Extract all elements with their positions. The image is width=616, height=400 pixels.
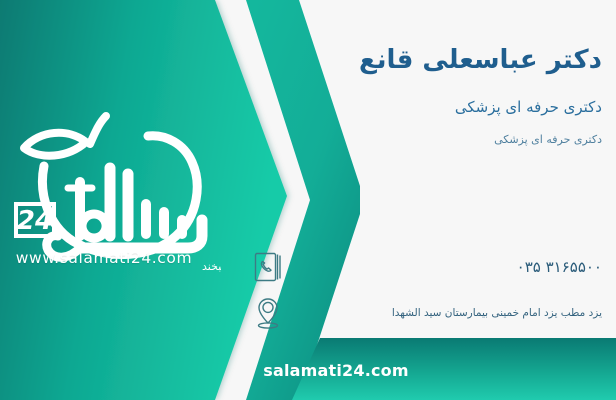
brand-website-url: www.salamati24.com — [0, 249, 208, 267]
location-pin-icon — [248, 293, 288, 333]
doctor-name: دکتر عباسعلی قانع — [242, 44, 602, 77]
contact-row-address[interactable]: یزد مطب یزد امام خمینی بیمارستان سید الش… — [242, 290, 602, 336]
doctor-specialty: دکتری حرفه ای پزشکی — [242, 98, 602, 118]
contact-row-phone[interactable]: ۳۱۶۵۵۰۰ ۰۳۵ — [242, 244, 602, 290]
footer-website: salamati24.com — [0, 361, 616, 380]
clinic-address: یزد مطب یزد امام خمینی بیمارستان سید الش… — [288, 306, 602, 321]
contact-list: ۳۱۶۵۵۰۰ ۰۳۵ یزد مطب یزد امام خمینی بیمار… — [242, 244, 602, 336]
business-card: 24 برای یک لبخند www.salamati24.com دکتر… — [0, 0, 616, 400]
doctor-specialty-secondary: دکتری حرفه ای پزشکی — [242, 133, 602, 147]
phone-number: ۳۱۶۵۵۰۰ ۰۳۵ — [288, 258, 602, 276]
phonebook-icon — [248, 247, 288, 287]
